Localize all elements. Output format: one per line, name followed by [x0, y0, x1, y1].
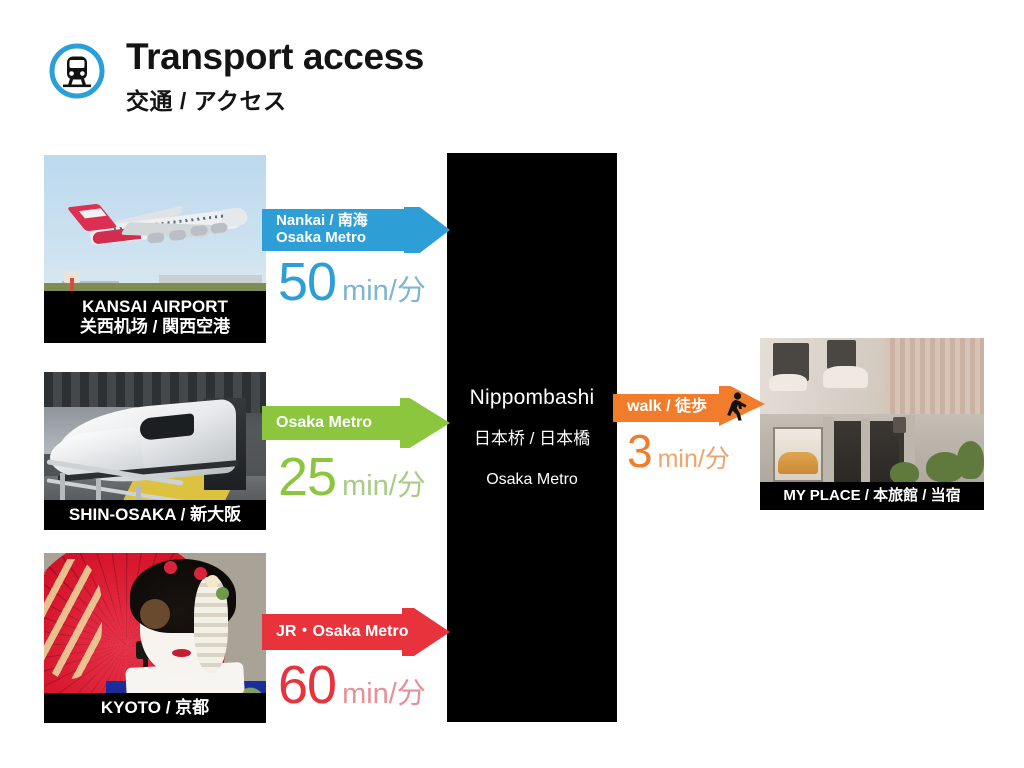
destination-card-my-place: MY PLACE / 本旅館 / 当宿 — [760, 338, 984, 510]
caption-en: KYOTO / 京都 — [44, 698, 266, 718]
route-label-line1: Nankai / 南海 — [276, 213, 368, 230]
caption: SHIN-OSAKA / 新大阪 — [44, 500, 266, 530]
route-duration-unit: min/分 — [342, 267, 426, 309]
page-title: Transport access — [126, 38, 424, 77]
route-arrow: Osaka Metro — [262, 398, 450, 448]
route-duration-value: 25 — [278, 450, 336, 504]
route-duration: 60 min/分 — [262, 658, 450, 712]
train-circle-icon — [48, 42, 106, 100]
page-header: Transport access 交通 / アクセス — [48, 42, 424, 116]
caption-en: SHIN-OSAKA / 新大阪 — [44, 505, 266, 525]
hub-nippombashi: Nippombashi 日本桥 / 日本橋 Osaka Metro — [447, 153, 617, 722]
route-walk: walk / 徒歩 3 min/分 — [613, 386, 765, 475]
hub-line-name: Osaka Metro — [486, 471, 578, 489]
hub-name-jp: 日本桥 / 日本橋 — [474, 424, 590, 449]
route-duration-unit: min/分 — [342, 670, 426, 712]
route-duration-unit: min/分 — [658, 439, 730, 475]
route-label: JR・Osaka Metro — [276, 623, 409, 641]
hub-name-en: Nippombashi — [470, 386, 595, 410]
caption: KYOTO / 京都 — [44, 693, 266, 723]
route-label-line2: Osaka Metro — [276, 230, 368, 247]
origin-card-kansai-airport: KANSAI AIRPORT 关西机场 / 関西空港 — [44, 155, 266, 343]
route-label-line1: JR・Osaka Metro — [276, 623, 409, 641]
caption: MY PLACE / 本旅館 / 当宿 — [760, 482, 984, 510]
route-label-line1: Osaka Metro — [276, 414, 372, 432]
route-duration-unit: min/分 — [342, 462, 426, 504]
pedestrian-walking-icon — [723, 392, 749, 422]
page-subtitle: 交通 / アクセス — [126, 82, 424, 116]
route-label: Nankai / 南海 Osaka Metro — [276, 213, 368, 247]
route-duration-value: 50 — [278, 255, 336, 309]
origin-card-kyoto: KYOTO / 京都 — [44, 553, 266, 723]
route-kansai-airport: Nankai / 南海 Osaka Metro 50 min/分 — [262, 207, 450, 309]
route-label-line1: walk / 徒歩 — [627, 398, 707, 416]
caption-en: MY PLACE / 本旅館 / 当宿 — [760, 487, 984, 505]
route-arrow: walk / 徒歩 — [613, 386, 765, 428]
route-label: walk / 徒歩 — [627, 398, 707, 416]
route-duration: 25 min/分 — [262, 450, 450, 504]
caption-jp: 关西机场 / 関西空港 — [44, 317, 266, 337]
route-duration-value: 60 — [278, 658, 336, 712]
route-duration: 50 min/分 — [262, 255, 450, 309]
route-duration: 3 min/分 — [613, 428, 765, 475]
route-kyoto: JR・Osaka Metro 60 min/分 — [262, 608, 450, 712]
caption: KANSAI AIRPORT 关西机场 / 関西空港 — [44, 291, 266, 343]
caption-en: KANSAI AIRPORT — [44, 297, 266, 317]
origin-card-shin-osaka: SHIN-OSAKA / 新大阪 — [44, 372, 266, 530]
route-label: Osaka Metro — [276, 414, 372, 432]
route-arrow: Nankai / 南海 Osaka Metro — [262, 207, 450, 253]
route-arrow: JR・Osaka Metro — [262, 608, 450, 656]
route-duration-value: 3 — [627, 428, 652, 474]
route-shin-osaka: Osaka Metro 25 min/分 — [262, 398, 450, 504]
